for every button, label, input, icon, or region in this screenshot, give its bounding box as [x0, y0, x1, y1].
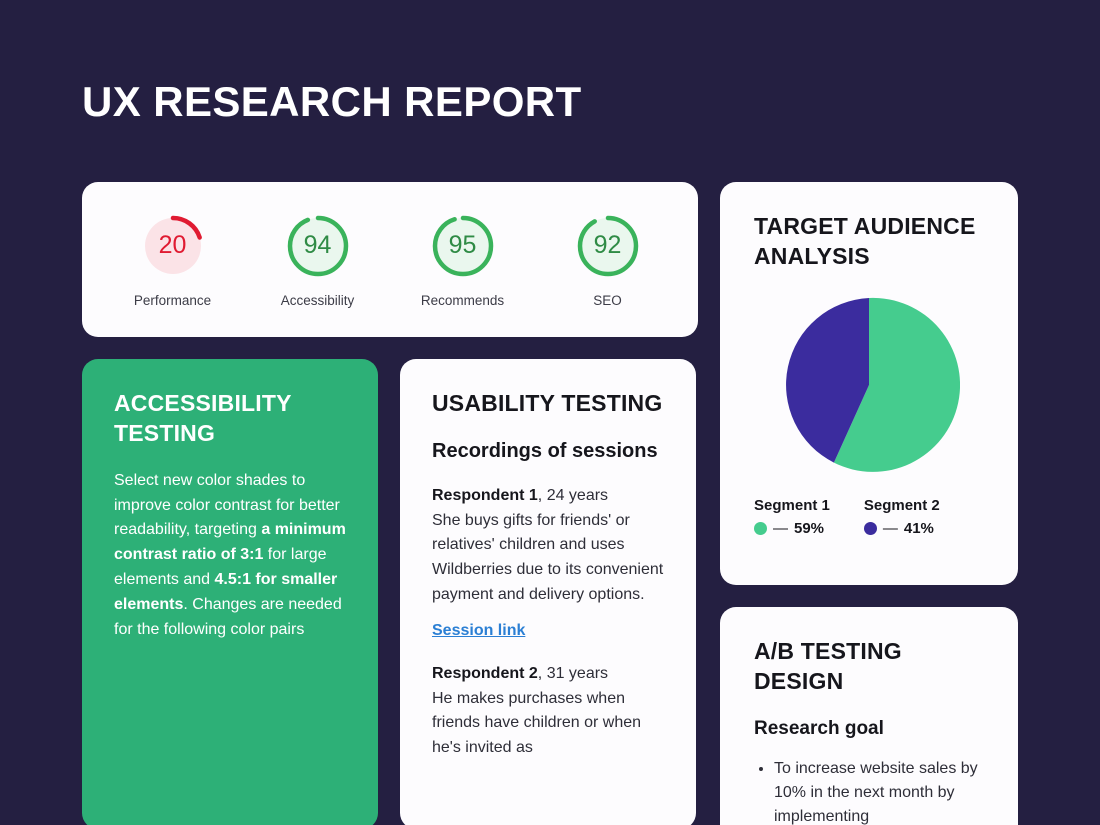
ab-testing-subheading: Research goal [754, 717, 984, 742]
legend-dot-segment-1 [754, 522, 767, 535]
usability-testing-heading: USABILITY TESTING [432, 389, 664, 418]
respondent-1: Respondent 1, 24 yearsShe buys gifts for… [432, 484, 664, 608]
legend-title-segment-2: Segment 2 [864, 498, 940, 513]
accessibility-testing-heading: ACCESSIBILITY TESTING [114, 389, 346, 449]
respondent-2-name: Respondent 2 [432, 665, 538, 682]
target-audience-card: TARGET AUDIENCE ANALYSIS Segment 1 — 59% [720, 182, 1018, 585]
list-item: To increase website sales by 10% in the … [774, 757, 984, 825]
respondent-1-text: She buys gifts for friends' or relatives… [432, 512, 663, 603]
left-column: 20 Performance 94 Accessibility [82, 182, 698, 825]
respondent-1-meta: , 24 years [538, 487, 608, 504]
gauge-recommends: 95 [429, 212, 497, 280]
page-title: UX RESEARCH REPORT [82, 79, 582, 125]
legend-dash-segment-1: — [773, 520, 788, 537]
gauge-performance-value: 20 [159, 233, 187, 258]
pie-chart-wrap [754, 294, 984, 476]
respondent-1-name: Respondent 1 [432, 487, 538, 504]
score-item-accessibility[interactable]: 94 Accessibility [256, 212, 380, 308]
legend-title-segment-1: Segment 1 [754, 498, 830, 513]
target-audience-heading: TARGET AUDIENCE ANALYSIS [754, 212, 984, 272]
score-item-seo[interactable]: 92 SEO [546, 212, 670, 308]
score-label-recommends: Recommends [421, 294, 504, 308]
accessibility-testing-card: ACCESSIBILITY TESTING Select new color s… [82, 359, 378, 825]
legend-percent-segment-2: 41% [904, 520, 934, 537]
legend-item-segment-2: Segment 2 — 41% [864, 498, 940, 537]
usability-testing-subheading: Recordings of sessions [432, 438, 664, 464]
legend-dot-segment-2 [864, 522, 877, 535]
legend-percent-segment-1: 59% [794, 520, 824, 537]
ab-testing-goal-list: To increase website sales by 10% in the … [754, 757, 984, 825]
ab-testing-heading: A/B TESTING DESIGN [754, 637, 984, 697]
respondent-2-text: He makes purchases when friends have chi… [432, 690, 641, 757]
gauge-accessibility-value: 94 [304, 233, 332, 258]
gauge-recommends-value: 95 [449, 233, 477, 258]
gauge-seo: 92 [574, 212, 642, 280]
legend-dash-segment-2: — [883, 520, 898, 537]
report-page: UX RESEARCH REPORT 20 Performance [0, 0, 1100, 825]
score-item-performance[interactable]: 20 Performance [111, 212, 235, 308]
legend-item-segment-1: Segment 1 — 59% [754, 498, 830, 537]
pie-chart [778, 294, 960, 476]
pie-legend: Segment 1 — 59% Segment 2 — 41% [754, 498, 984, 537]
session-link[interactable]: Session link [432, 622, 525, 640]
score-label-accessibility: Accessibility [281, 294, 355, 308]
ab-testing-card: A/B TESTING DESIGN Research goal To incr… [720, 607, 1018, 825]
score-label-seo: SEO [593, 294, 622, 308]
scores-card: 20 Performance 94 Accessibility [82, 182, 698, 337]
right-column: TARGET AUDIENCE ANALYSIS Segment 1 — 59% [720, 182, 1018, 825]
respondent-2: Respondent 2, 31 yearsHe makes purchases… [432, 662, 664, 761]
score-label-performance: Performance [134, 294, 211, 308]
gauge-performance: 20 [139, 212, 207, 280]
legend-value-row-segment-1: — 59% [754, 520, 830, 537]
respondent-2-meta: , 31 years [538, 665, 608, 682]
gauge-accessibility: 94 [284, 212, 352, 280]
legend-value-row-segment-2: — 41% [864, 520, 940, 537]
accessibility-testing-body: Select new color shades to improve color… [114, 469, 346, 643]
usability-testing-card: USABILITY TESTING Recordings of sessions… [400, 359, 696, 825]
gauge-seo-value: 92 [594, 233, 622, 258]
score-item-recommends[interactable]: 95 Recommends [401, 212, 525, 308]
lower-row: ACCESSIBILITY TESTING Select new color s… [82, 359, 698, 825]
